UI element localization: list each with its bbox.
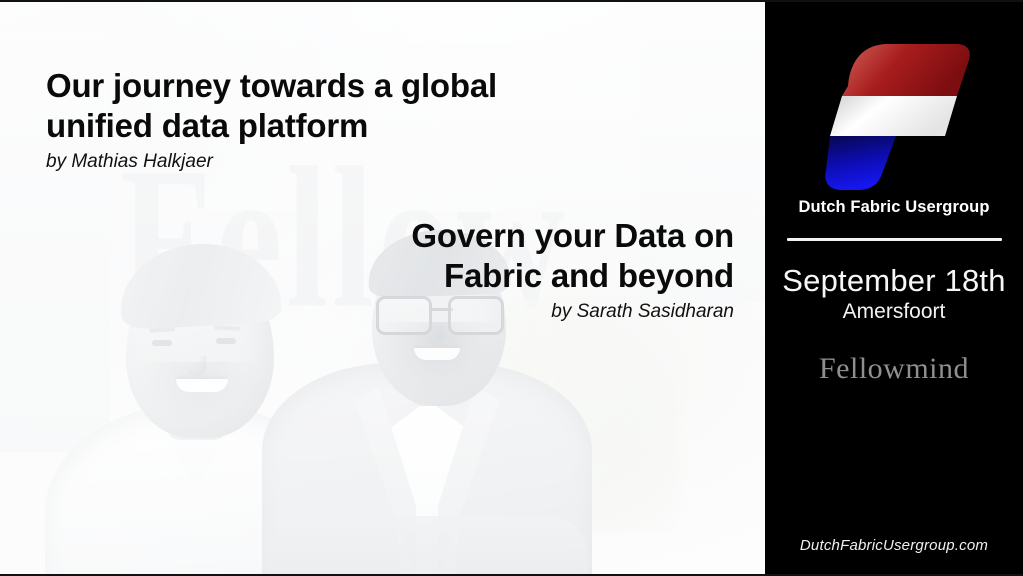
- talk-one-title-line-2: unified data platform: [46, 106, 497, 146]
- event-info-panel: Dutch Fabric Usergroup September 18th Am…: [765, 2, 1023, 576]
- speaker-right-crossed-arms: [268, 516, 588, 576]
- talk-two-byline: by Sarath Sasidharan: [411, 301, 734, 323]
- speaker-left-nose: [186, 356, 206, 376]
- speaker-left-eye-right: [216, 338, 236, 344]
- talk-one-byline: by Mathias Halkjaer: [46, 151, 497, 173]
- talk-one-title: Our journey towards a global unified dat…: [46, 66, 497, 147]
- dutch-flag-fabric-f-logo: [804, 24, 984, 192]
- talk-two-title-line-2: Fabric and beyond: [411, 256, 734, 296]
- talk-two-title-line-1: Govern your Data on: [411, 216, 734, 256]
- talk-one-title-line-1: Our journey towards a global: [46, 66, 497, 106]
- talk-block-two: Govern your Data on Fabric and beyond by…: [411, 216, 734, 323]
- sponsor-wordmark: Fellowmind: [819, 352, 969, 386]
- panel-divider: [787, 238, 1002, 241]
- speaker-left-hair: [118, 240, 282, 330]
- event-city: Amersfoort: [843, 300, 946, 324]
- speaker-left-eye-left: [152, 340, 172, 346]
- event-slide: Fellow: [0, 0, 1023, 576]
- speaker-right-mouth: [414, 348, 460, 360]
- event-date: September 18th: [782, 263, 1005, 299]
- talk-block-one: Our journey towards a global unified dat…: [46, 66, 497, 173]
- talk-two-title: Govern your Data on Fabric and beyond: [411, 216, 734, 297]
- organization-name: Dutch Fabric Usergroup: [798, 198, 989, 217]
- speaker-left-mouth: [176, 379, 228, 392]
- website-url: DutchFabricUsergroup.com: [800, 537, 988, 554]
